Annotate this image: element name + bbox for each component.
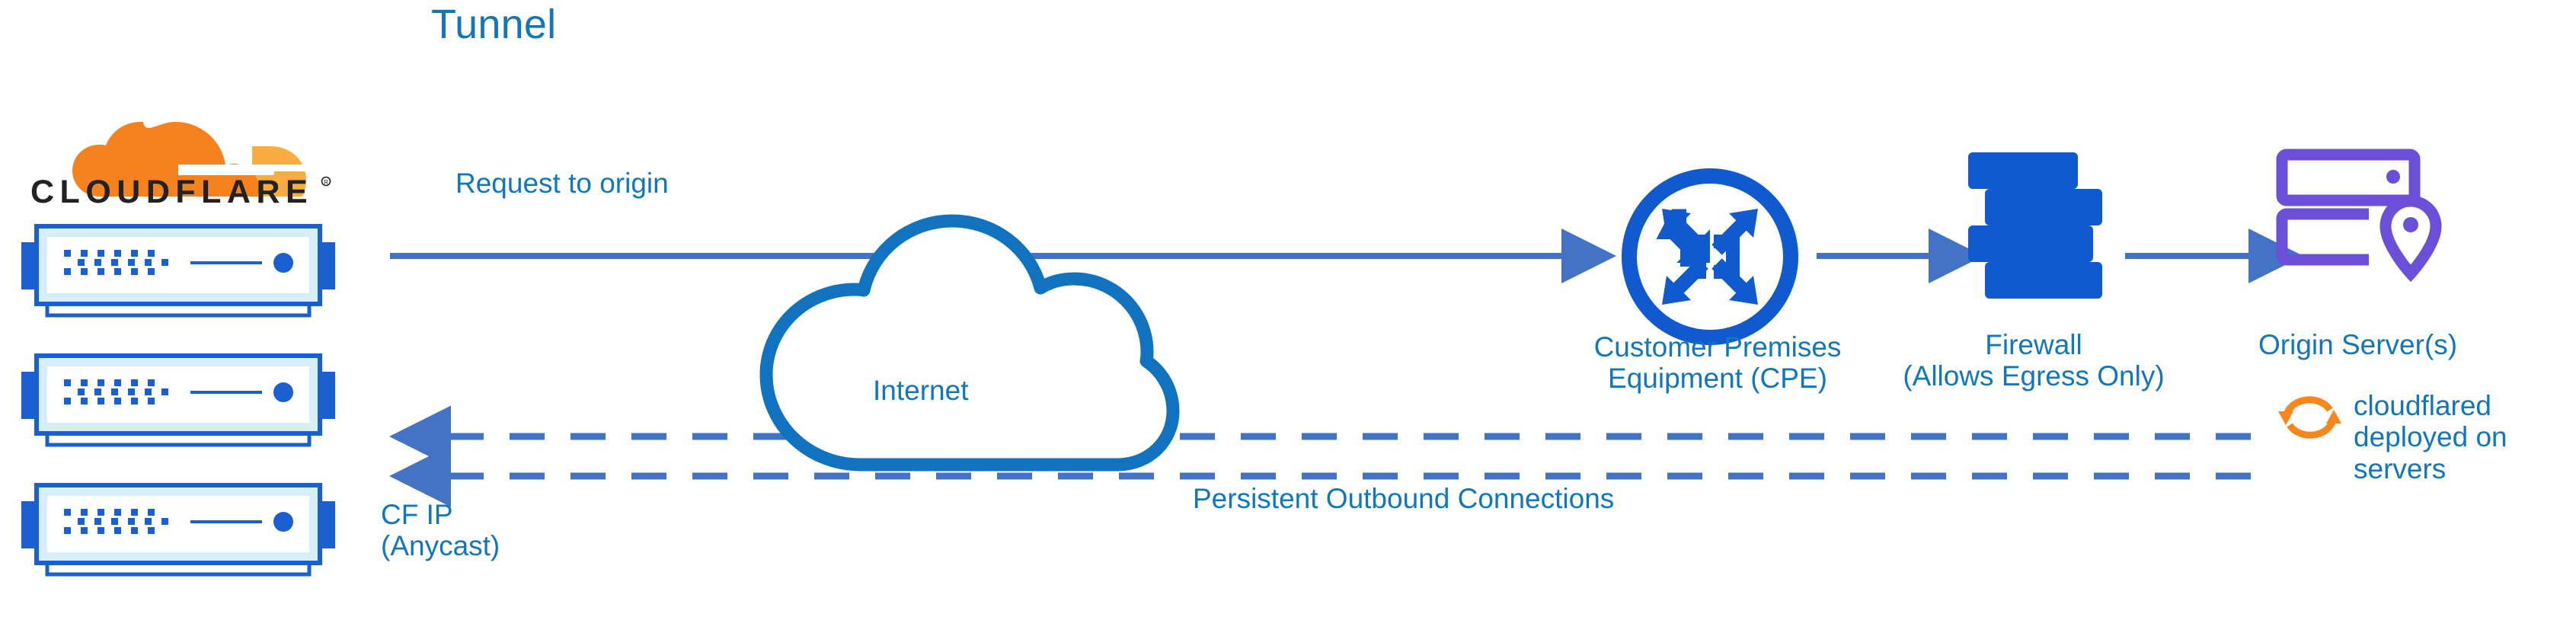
network-switch-icon (11, 474, 346, 580)
cloudflared-line3: servers (2354, 453, 2446, 484)
cloudflared-line1: cloudflared (2354, 390, 2491, 421)
cpe-label-line2: Equipment (CPE) (1608, 363, 1827, 394)
firewall-label-line2: (Allows Egress Only) (1903, 360, 2164, 392)
diagram-canvas: Tunnel CLOUDFLARE R (0, 0, 2576, 617)
cloudflared-annotation: cloudflareddeployed onservers (2354, 390, 2529, 484)
page-title: Tunnel (431, 2, 556, 47)
cloud-icon (708, 213, 1196, 480)
svg-text:CLOUDFLARE: CLOUDFLARE (30, 174, 313, 209)
cf-ip-anycast-label: CF IP(Anycast) (381, 499, 500, 562)
firewall-label: Firewall(Allows Egress Only) (1866, 329, 2201, 392)
firewall-label-line1: Firewall (1985, 329, 2082, 360)
router-four-arrows-circle-icon (1615, 161, 1805, 352)
cpe-label-line1: Customer Premises (1594, 331, 1842, 363)
server-rack-location-pin-icon (2270, 141, 2445, 316)
network-switch-icon (11, 344, 346, 451)
cpe-label: Customer PremisesEquipment (CPE) (1558, 331, 1878, 395)
cf-ip-line2: (Anycast) (381, 530, 500, 561)
request-to-origin-label: Request to origin (455, 168, 669, 199)
circular-sync-arrows-icon (2274, 381, 2346, 453)
internet-label: Internet (873, 375, 968, 406)
cloudflared-line2: deployed on (2354, 421, 2507, 452)
network-switch-icon (11, 215, 346, 321)
persistent-outbound-label: Persistent Outbound Connections (1193, 483, 1614, 514)
svg-text:R: R (324, 179, 328, 186)
origin-servers-label: Origin Server(s) (2258, 329, 2457, 360)
cloudflare-wordmark: CLOUDFLARE R (30, 174, 332, 209)
brick-wall-icon (1964, 145, 2124, 305)
cf-ip-line1: CF IP (381, 499, 453, 530)
